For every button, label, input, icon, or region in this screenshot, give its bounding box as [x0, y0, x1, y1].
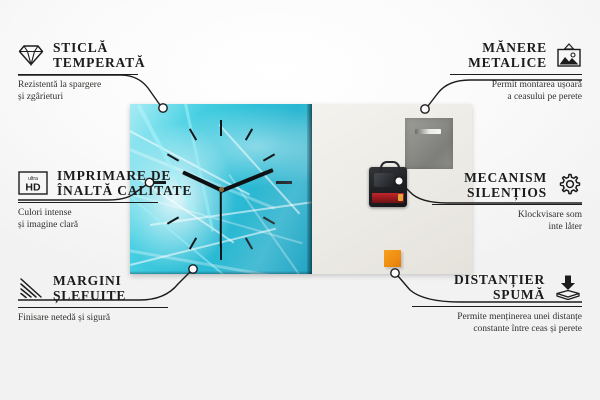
- callout-desc-line2: a ceasului pe perete: [418, 92, 582, 104]
- movement-detail: [374, 173, 394, 187]
- callout-rule: [18, 307, 168, 308]
- polished-edges-icon: [18, 277, 44, 299]
- hanger-slot: [415, 129, 441, 134]
- callout-desc-line2: și imagine clară: [18, 220, 188, 232]
- callout-header: STICLĂ TEMPERATĂ: [18, 40, 178, 70]
- ultra-hd-icon: ultra HD: [18, 171, 48, 195]
- callout-rule: [412, 306, 582, 307]
- callout-title-line1: DISTANȚIER: [454, 272, 545, 287]
- callout-desc-line2: inte låter: [432, 222, 582, 234]
- callout-header: ultra HD IMPRIMARE DE ÎNALTĂ CALITATE: [18, 168, 188, 198]
- callout-title-line2: SPUMĂ: [454, 287, 545, 302]
- infographic-canvas: STICLĂ TEMPERATĂ Rezistentă la spargere …: [0, 0, 600, 400]
- callout-title-line2: TEMPERATĂ: [53, 55, 145, 70]
- callout-header: DISTANȚIER SPUMĂ: [412, 272, 582, 302]
- metal-hanger: [405, 118, 453, 169]
- callout-rule: [18, 202, 158, 203]
- callout-desc-line1: Permit montarea ușoară: [418, 80, 582, 92]
- battery: [372, 193, 404, 203]
- callout-title-line2: ȘLEFUITE: [53, 288, 126, 303]
- hanging-frame-icon: [556, 43, 582, 68]
- callout-metal-handles: MĂNERE METALICE Permit montarea ușoară a…: [418, 40, 582, 103]
- callout-header: MĂNERE METALICE: [418, 40, 582, 70]
- callout-title-line1: STICLĂ: [53, 40, 145, 55]
- callout-title-line1: MECANISM: [464, 170, 547, 185]
- hd-label: HD: [25, 182, 41, 194]
- diamond-icon: [18, 44, 44, 66]
- gear-icon: [556, 172, 582, 198]
- callout-desc-line1: Culori intense: [18, 208, 188, 220]
- callout-title-line2: SILENȚIOS: [464, 185, 547, 200]
- battery-terminal: [398, 194, 403, 201]
- callout-tempered-glass: STICLĂ TEMPERATĂ Rezistentă la spargere …: [18, 40, 178, 103]
- callout-high-quality-print: ultra HD IMPRIMARE DE ÎNALTĂ CALITATE Cu…: [18, 168, 188, 231]
- callout-header: MECANISM SILENȚIOS: [432, 170, 582, 200]
- quartz-movement: [369, 167, 407, 207]
- callout-silent-mechanism: MECANISM SILENȚIOS Klockvisare som inte …: [432, 170, 582, 233]
- callout-polished-edges: MARGINI ȘLEFUITE Finisare netedă și sigu…: [18, 273, 188, 325]
- callout-rule: [450, 74, 582, 75]
- callout-title-line2: ÎNALTĂ CALITATE: [57, 183, 192, 198]
- callout-desc-line1: Finisare netedă și sigură: [18, 313, 188, 325]
- callout-title-line1: IMPRIMARE DE: [57, 168, 192, 183]
- movement-hook: [380, 161, 400, 172]
- callout-desc-line2: constante între ceas și perete: [412, 324, 582, 336]
- foam-spacer-pad: [384, 250, 401, 267]
- callout-desc-line1: Klockvisare som: [432, 210, 582, 222]
- callout-title-line1: MARGINI: [53, 273, 126, 288]
- callout-rule: [432, 204, 582, 205]
- callout-desc-line1: Permite menținerea unei distanțe: [412, 312, 582, 324]
- press-down-foam-icon: [554, 274, 582, 301]
- callout-desc-line1: Rezistentă la spargere: [18, 80, 178, 92]
- callout-desc-line2: și zgârieturi: [18, 92, 178, 104]
- callout-header: MARGINI ȘLEFUITE: [18, 273, 188, 303]
- callout-title-line1: MĂNERE: [468, 40, 547, 55]
- callout-rule: [18, 74, 138, 75]
- callout-foam-spacer: DISTANȚIER SPUMĂ Permite menținerea unei…: [412, 272, 582, 335]
- callout-title-line2: METALICE: [468, 55, 547, 70]
